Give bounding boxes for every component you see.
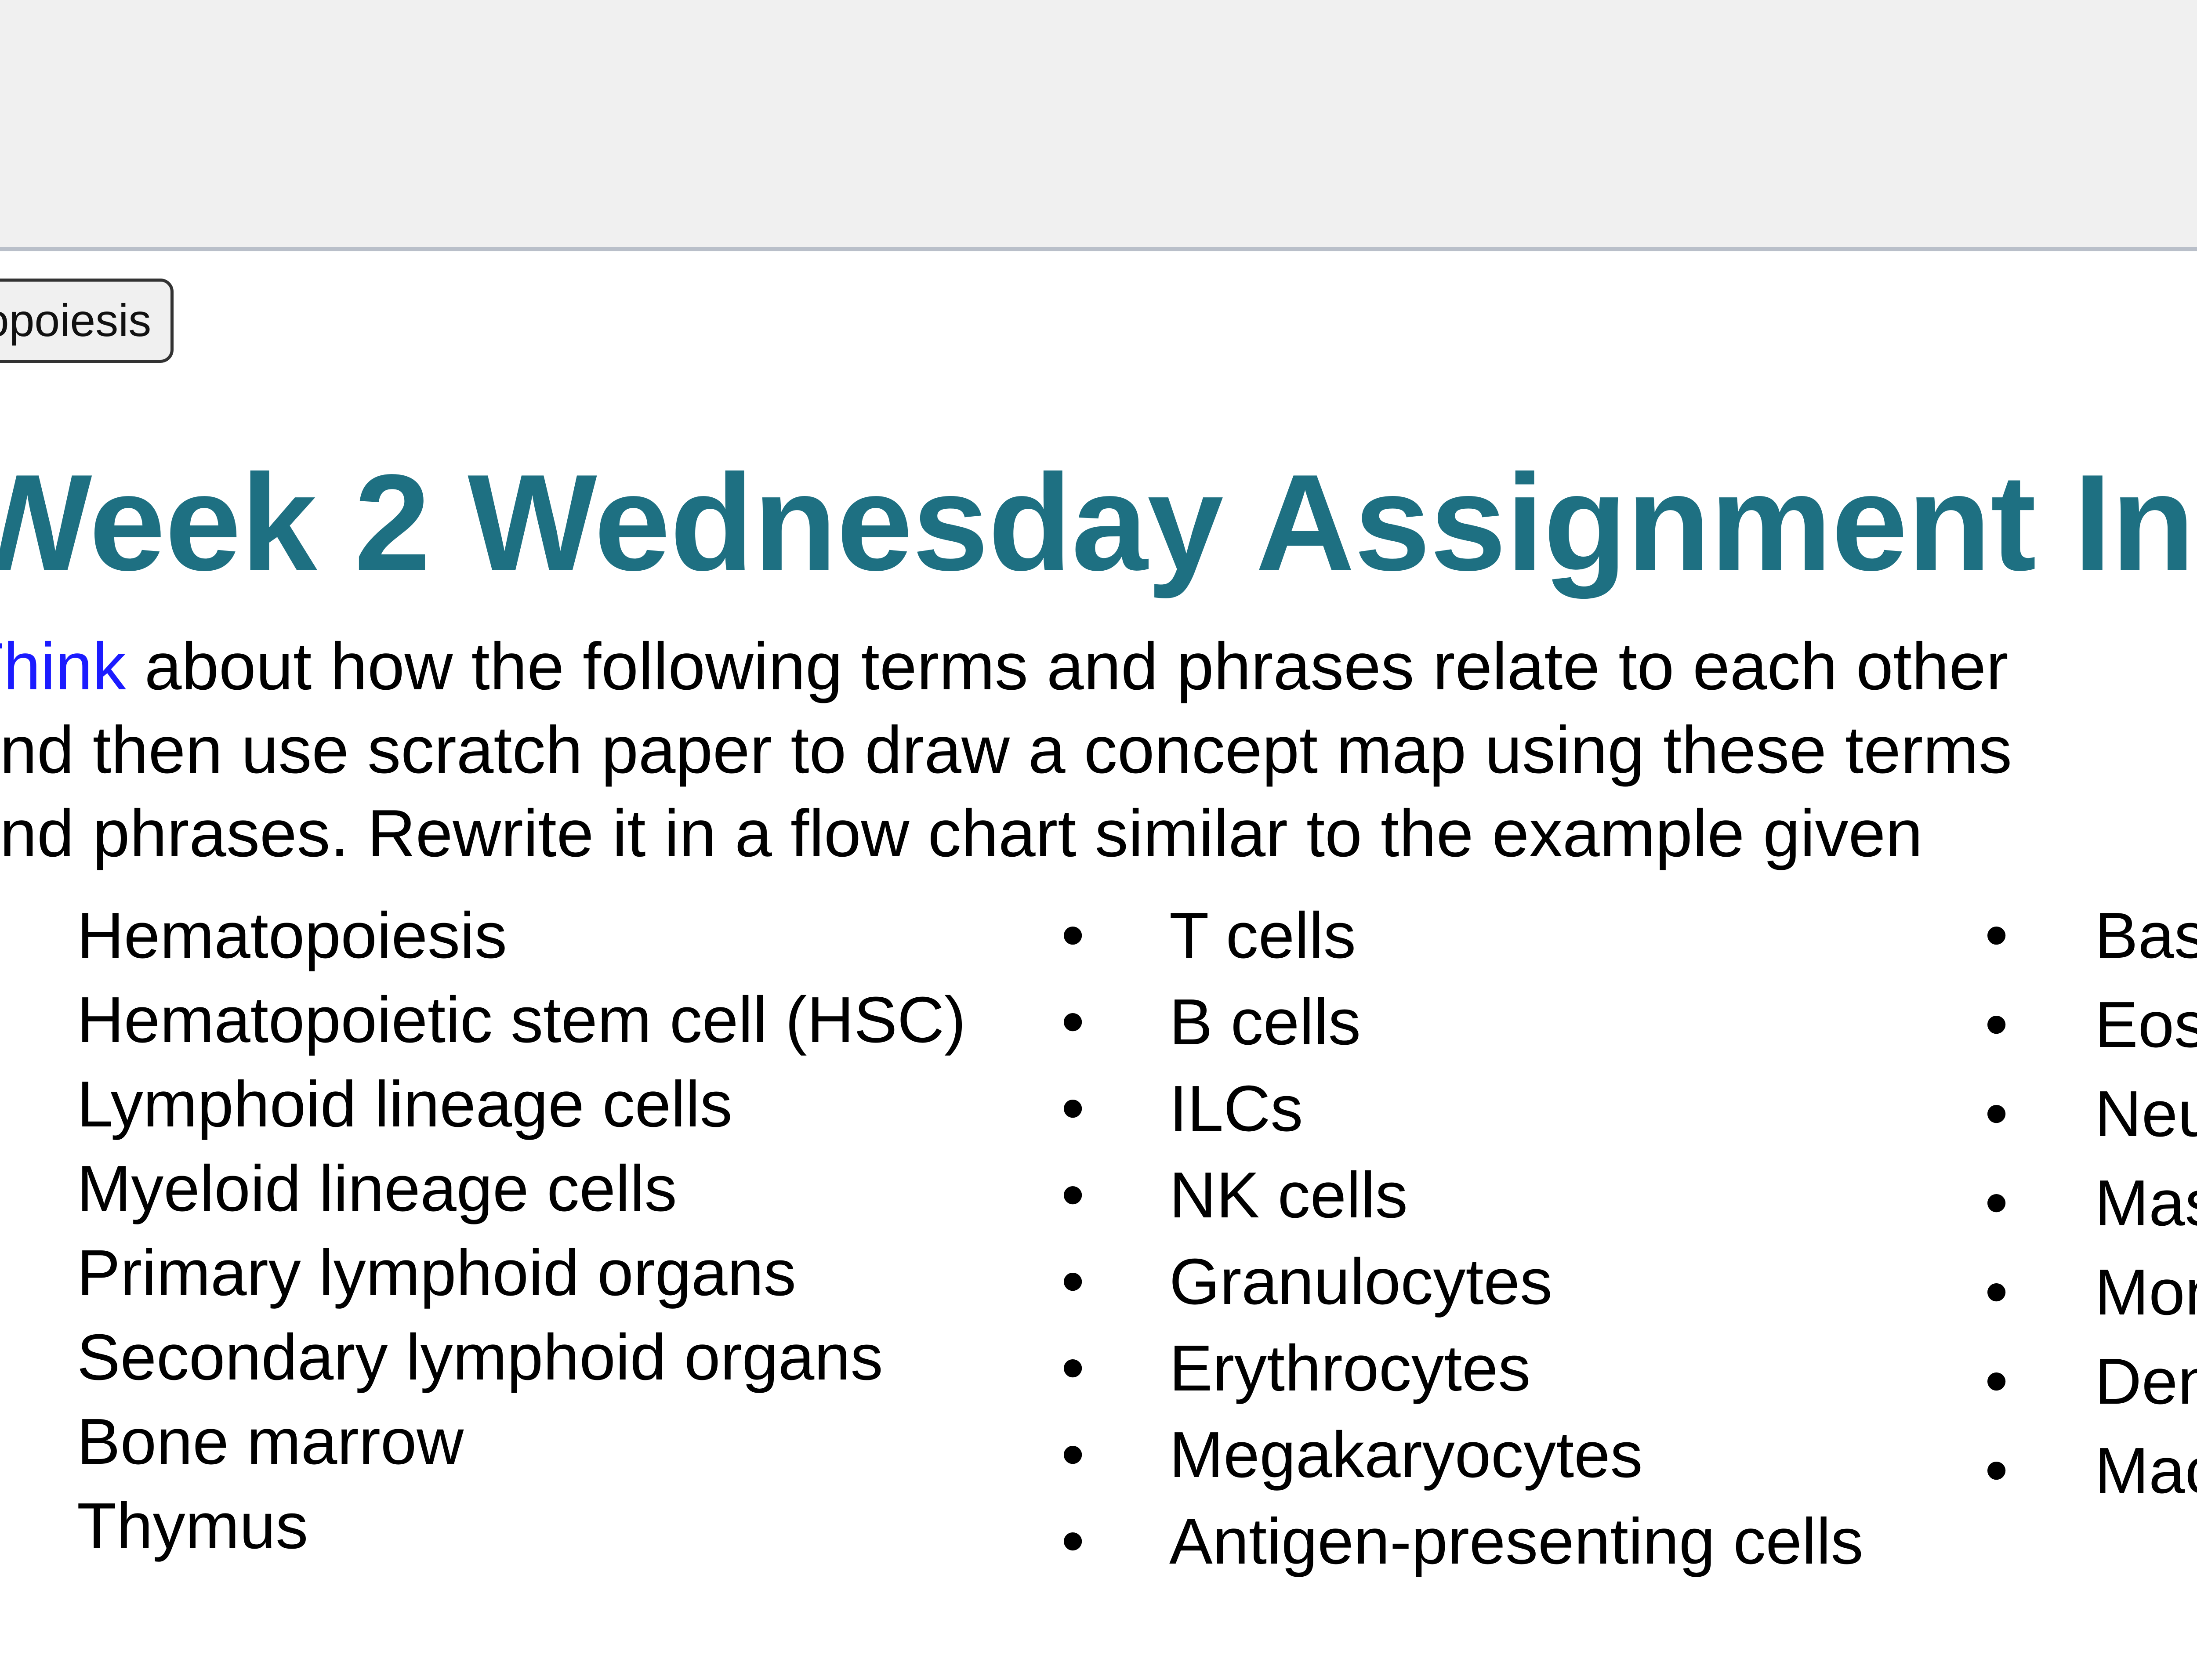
list-item: • Macrophages <box>1979 1437 2197 1526</box>
bullet-icon: • <box>0 1155 77 1221</box>
term-label: Megakaryocytes <box>1169 1422 1643 1488</box>
bullet-icon: • <box>1979 1347 2095 1414</box>
list-item: • Monocytes <box>1979 1258 2197 1347</box>
term-label: Hematopoietic stem cell (HSC) <box>77 987 966 1054</box>
app-chrome-bar <box>0 0 2197 251</box>
bullet-icon: • <box>1056 1075 1169 1141</box>
list-item: • Basophils <box>1979 902 2197 991</box>
bullet-icon: • <box>0 1408 77 1474</box>
list-item: • Bone marrow <box>0 1408 1008 1492</box>
bullet-icon: • <box>1056 1421 1169 1488</box>
term-label: Dendritic cells <box>2095 1348 2197 1415</box>
bullet-icon: • <box>0 902 77 968</box>
term-label: Bone marrow <box>77 1408 464 1475</box>
term-label: Myeloid lineage cells <box>77 1155 677 1222</box>
bullet-icon: • <box>1979 1169 2095 1236</box>
list-item: • NK cells <box>1056 1161 1891 1248</box>
term-column-1: • Hematopoiesis • Hematopoietic stem cel… <box>0 902 1008 1576</box>
list-item: • Megakaryocytes <box>1056 1421 1891 1507</box>
term-label: Secondary lymphoid organs <box>77 1324 883 1391</box>
term-label: T cells <box>1169 902 1356 969</box>
term-label: Granulocytes <box>1169 1249 1552 1315</box>
list-item: • Erythrocytes <box>1056 1334 1891 1421</box>
term-label: Neutrophils <box>2095 1081 2197 1148</box>
paragraph-body-text: about how the following terms and phrase… <box>0 629 2012 871</box>
bullet-icon: • <box>1056 988 1169 1055</box>
term-label: Mast cells <box>2095 1170 2197 1237</box>
list-item: • T cells <box>1056 902 1891 988</box>
list-item: • Neutrophils <box>1979 1080 2197 1169</box>
slide-content: atopoiesis Week 2 Wednesday Assignment I… <box>0 256 2197 1680</box>
term-label: Lymphoid lineage cells <box>77 1071 732 1138</box>
term-label: B cells <box>1169 989 1361 1056</box>
bullet-icon: • <box>0 1492 77 1559</box>
list-item: • Eosinophils <box>1979 991 2197 1080</box>
term-label: NK cells <box>1169 1162 1408 1229</box>
list-item: • Secondary lymphoid organs <box>0 1323 1008 1408</box>
term-label: Eosinophils <box>2095 992 2197 1058</box>
term-label: ILCs <box>1169 1075 1303 1142</box>
term-label: Hematopoiesis <box>77 902 507 969</box>
list-item: • Myeloid lineage cells <box>0 1155 1008 1239</box>
paragraph-lead-word: Think <box>0 629 126 704</box>
term-label: Erythrocytes <box>1169 1335 1530 1402</box>
document-viewport[interactable]: atopoiesis Week 2 Wednesday Assignment I… <box>0 256 2197 1680</box>
term-label: Basophils <box>2095 902 2197 969</box>
bullet-icon: • <box>0 986 77 1053</box>
term-label: Thymus <box>77 1493 308 1560</box>
bullet-icon: • <box>0 1239 77 1306</box>
list-item: • Primary lymphoid organs <box>0 1239 1008 1323</box>
term-column-3: • Basophils • Eosinophils • Neutrophils … <box>1979 902 2197 1526</box>
list-item: • ILCs <box>1056 1075 1891 1161</box>
term-list-columns: • Hematopoiesis • Hematopoietic stem cel… <box>0 902 2197 1648</box>
list-item: • Antigen-presenting cells <box>1056 1507 1891 1594</box>
instruction-paragraph: Think about how the following terms and … <box>0 625 2037 875</box>
bullet-icon: • <box>0 1070 77 1137</box>
bullet-icon: • <box>1979 1258 2095 1325</box>
term-label: Macrophages <box>2095 1437 2197 1504</box>
bullet-icon: • <box>0 1323 77 1390</box>
bullet-icon: • <box>1056 1507 1169 1574</box>
list-item: • Thymus <box>0 1492 1008 1576</box>
term-label: Antigen-presenting cells <box>1169 1508 1863 1575</box>
list-item: • Hematopoietic stem cell (HSC) <box>0 986 1008 1070</box>
term-column-2: • T cells • B cells • ILCs • NK cells • <box>1056 902 1891 1594</box>
bullet-icon: • <box>1056 1248 1169 1314</box>
page-title: Week 2 Wednesday Assignment Instructions <box>0 451 2197 595</box>
section-tab-label: atopoiesis <box>0 298 151 344</box>
term-label: Primary lymphoid organs <box>77 1240 796 1307</box>
bullet-icon: • <box>1979 1080 2095 1147</box>
bullet-icon: • <box>1056 1334 1169 1401</box>
list-item: • Granulocytes <box>1056 1248 1891 1334</box>
list-item: • B cells <box>1056 988 1891 1075</box>
list-item: • Dendritic cells <box>1979 1347 2197 1437</box>
bullet-icon: • <box>1056 1161 1169 1228</box>
bullet-icon: • <box>1056 902 1169 968</box>
list-item: • Lymphoid lineage cells <box>0 1070 1008 1155</box>
bullet-icon: • <box>1979 902 2095 968</box>
term-label: Monocytes <box>2095 1259 2197 1326</box>
list-item: • Hematopoiesis <box>0 902 1008 986</box>
bullet-icon: • <box>1979 991 2095 1057</box>
section-tab-hematopoiesis[interactable]: atopoiesis <box>0 279 174 363</box>
bullet-icon: • <box>1979 1437 2095 1503</box>
list-item: • Mast cells <box>1979 1169 2197 1258</box>
